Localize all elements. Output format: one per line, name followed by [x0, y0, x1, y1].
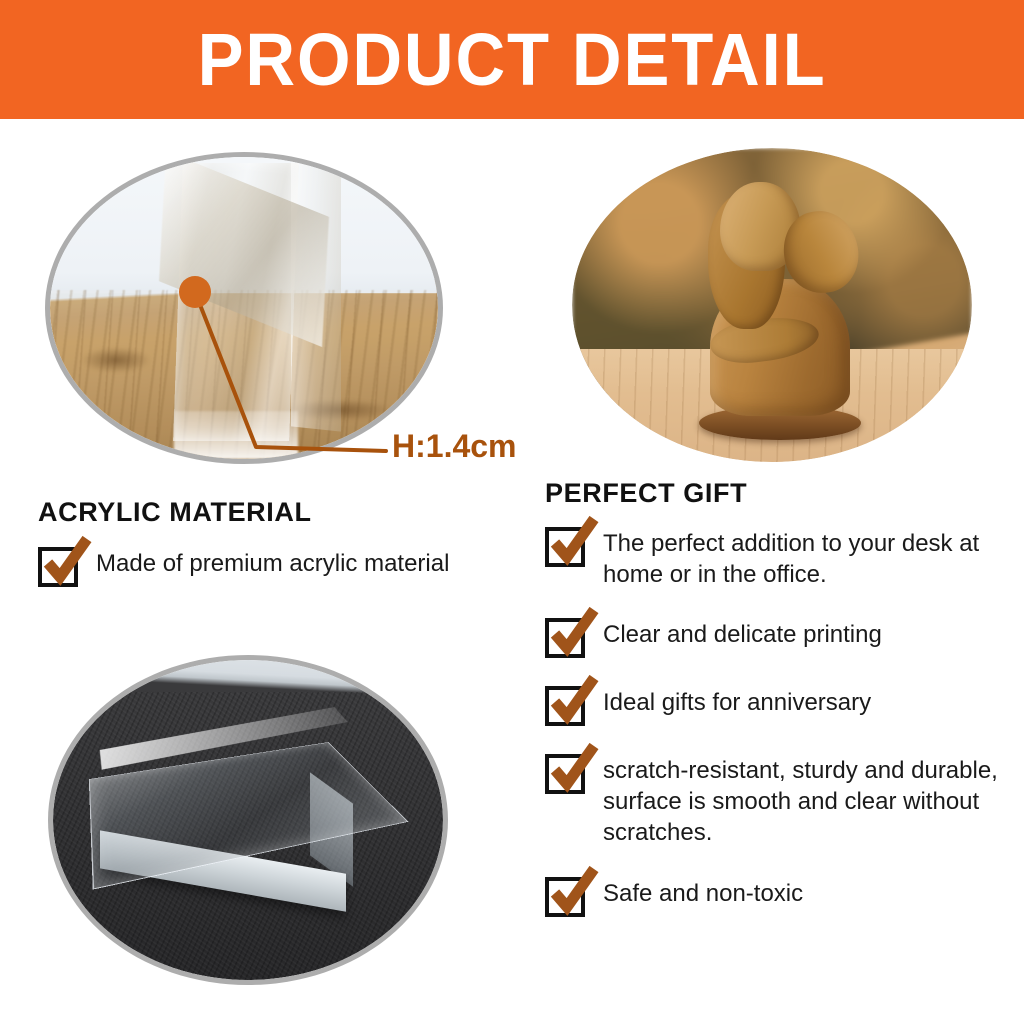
acrylic-block-photo: [48, 655, 448, 985]
list-item-label: scratch-resistant, sturdy and durable, s…: [603, 752, 1005, 848]
checkbox-checked-icon: [38, 547, 78, 587]
bullet-list-perfect-gift: The perfect addition to your desk at hom…: [545, 525, 1005, 943]
check-mark-icon: [547, 740, 601, 794]
checkbox-checked-icon: [545, 686, 585, 726]
sculpture-photo: [572, 148, 972, 462]
acrylic-edge-photo-inner: [50, 157, 438, 459]
list-item-label: Clear and delicate printing: [603, 616, 882, 651]
acrylic-slab-base-glow: [174, 411, 298, 459]
height-callout-label: H:1.4cm: [392, 428, 517, 465]
check-mark-icon: [547, 672, 601, 726]
check-mark-icon: [547, 604, 601, 658]
acrylic-edge-photo: [45, 152, 443, 464]
page-title: PRODUCT DETAIL: [198, 23, 827, 97]
check-mark-icon: [547, 863, 601, 917]
sculpture-photo-inner: [572, 148, 972, 462]
list-item: Made of premium acrylic material: [38, 545, 508, 587]
header-banner: PRODUCT DETAIL: [0, 0, 1024, 119]
checkbox-checked-icon: [545, 754, 585, 794]
list-item: Ideal gifts for anniversary: [545, 684, 1005, 726]
section-heading-perfect-gift: PERFECT GIFT: [545, 478, 747, 509]
list-item-label: Ideal gifts for anniversary: [603, 684, 871, 719]
list-item-label: The perfect addition to your desk at hom…: [603, 525, 1003, 590]
acrylic-block-photo-inner: [53, 660, 443, 980]
list-item: Safe and non-toxic: [545, 875, 1005, 917]
list-item: Clear and delicate printing: [545, 616, 1005, 658]
list-item-label: Made of premium acrylic material: [96, 545, 449, 580]
list-item: scratch-resistant, sturdy and durable, s…: [545, 752, 1005, 848]
couple-sculpture: [692, 176, 868, 440]
check-mark-icon: [40, 533, 94, 587]
checkbox-checked-icon: [545, 618, 585, 658]
checkbox-checked-icon: [545, 877, 585, 917]
checkbox-checked-icon: [545, 527, 585, 567]
list-item-label: Safe and non-toxic: [603, 875, 803, 910]
product-detail-page: PRODUCT DETAIL: [0, 0, 1024, 1024]
check-mark-icon: [547, 513, 601, 567]
section-heading-acrylic-material: ACRYLIC MATERIAL: [38, 497, 312, 528]
bullet-list-acrylic-material: Made of premium acrylic material: [38, 545, 508, 613]
list-item: The perfect addition to your desk at hom…: [545, 525, 1005, 590]
